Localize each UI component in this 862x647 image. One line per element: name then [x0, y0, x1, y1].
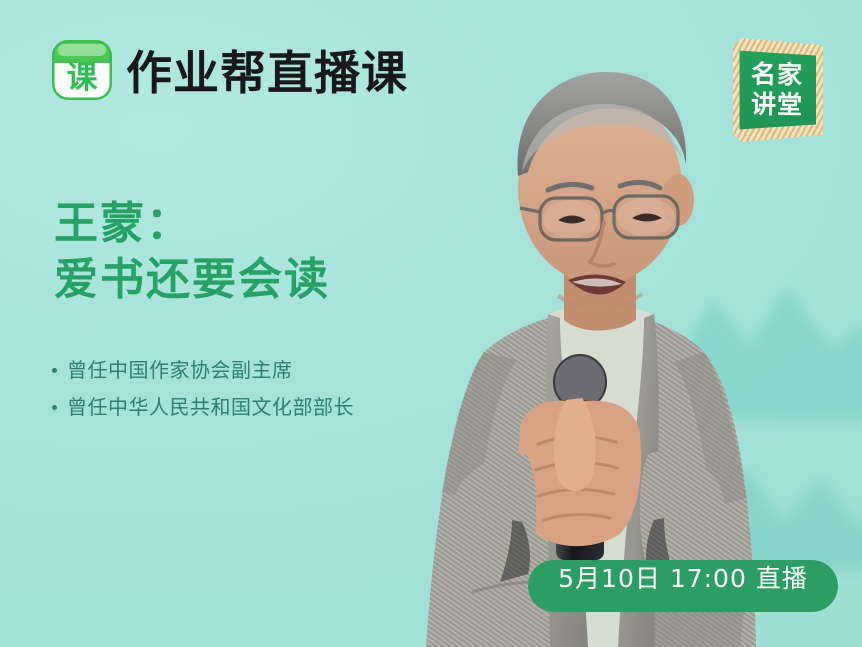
- list-item: 曾任中华人民共和国文化部部长: [52, 394, 354, 420]
- logo-gloss: [58, 44, 106, 56]
- credential-text: 曾任中国作家协会副主席: [67, 357, 293, 383]
- credential-text: 曾任中华人民共和国文化部部长: [67, 394, 354, 420]
- logo-character: 课: [52, 58, 112, 98]
- speaker-photo: [352, 52, 822, 647]
- bullet-dot-icon: [52, 368, 57, 373]
- schedule-badge: 5月10日 17:00 直播: [528, 560, 838, 612]
- promo-poster: 课 作业帮直播课 名家 讲堂 王蒙： 爱书还要会读 曾任中国作家协会副主席 曾任…: [0, 0, 862, 647]
- page-title: 王蒙： 爱书还要会读: [54, 196, 330, 308]
- credential-list: 曾任中国作家协会副主席 曾任中华人民共和国文化部部长: [52, 357, 354, 420]
- list-item: 曾任中国作家协会副主席: [52, 357, 354, 383]
- schedule-text: 5月10日 17:00 直播: [558, 564, 808, 594]
- bullet-dot-icon: [52, 405, 57, 410]
- zuoyebang-logo-icon: 课: [52, 40, 112, 100]
